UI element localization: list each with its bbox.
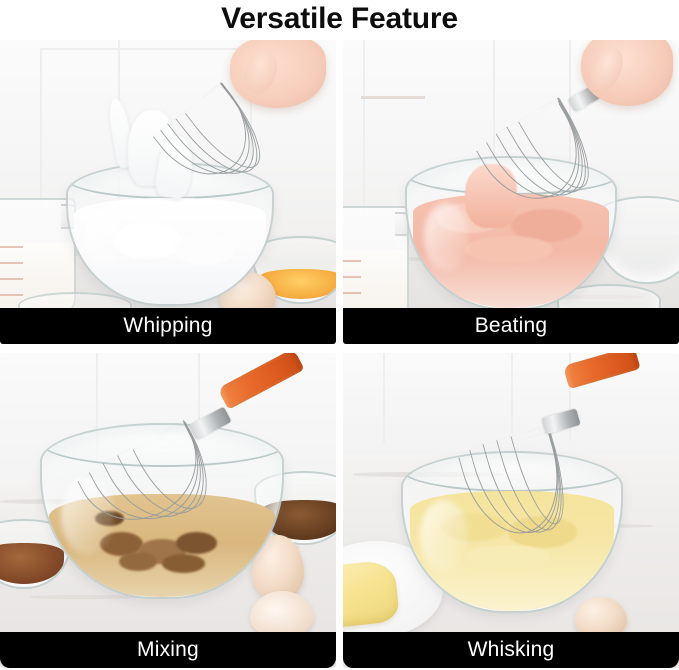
page-title: Versatile Feature (0, 0, 679, 38)
feature-panel-whisking: Whisking (343, 353, 679, 668)
feature-panel-mixing: Mixing (0, 353, 336, 668)
whisk-tool (455, 353, 655, 547)
caption-whipping: Whipping (0, 308, 336, 344)
whisk-tool (78, 357, 318, 537)
caption-mixing: Mixing (0, 632, 336, 668)
feature-panel-whipping: Whipping (0, 40, 336, 344)
cracked-eggshell-prop (250, 591, 314, 637)
walnut-chunk (162, 554, 205, 573)
feature-grid: Whipping (0, 40, 679, 670)
photo-whisking (343, 353, 679, 668)
measuring-cup-with-milk (343, 206, 409, 320)
caption-beating: Beating (343, 308, 679, 344)
photo-whipping (0, 40, 336, 344)
photo-beating (343, 40, 679, 344)
caption-whisking: Whisking (343, 632, 679, 668)
photo-mixing (0, 353, 336, 668)
feature-panel-beating: Beating (343, 40, 679, 344)
